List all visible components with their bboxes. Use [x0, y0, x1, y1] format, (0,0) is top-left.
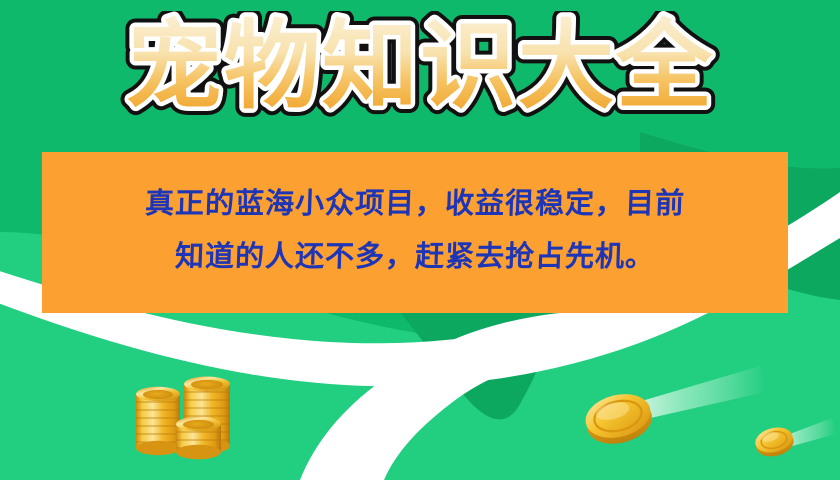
highlight-panel: 真正的蓝海小众项目，收益很稳定，目前 知道的人还不多，赶紧去抢占先机。 [42, 152, 788, 313]
panel-text-line-1: 真正的蓝海小众项目，收益很稳定，目前 [144, 185, 685, 223]
coin-stack-left [136, 387, 180, 455]
poster-canvas: 宠物知识大全 宠物知识大全 宠物知识大全 真正的蓝海小众项目，收益很稳定，目前 … [0, 0, 840, 480]
poster-title: 宠物知识大全 宠物知识大全 宠物知识大全 [0, 8, 840, 133]
panel-text-line-2: 知道的人还不多，赶紧去抢占先机。 [174, 238, 655, 276]
flying-coin-large-icon [574, 386, 744, 456]
title-fill: 宠物知识大全 [126, 11, 714, 122]
title-artwork: 宠物知识大全 宠物知识大全 宠物知识大全 [110, 11, 730, 131]
coin-stack-front-right [176, 417, 221, 460]
white-swoosh-lower [300, 310, 600, 480]
dark-green-wedge [400, 312, 560, 419]
flying-coin-small-icon [748, 418, 840, 468]
gold-coin-stacks-icon [128, 368, 244, 464]
